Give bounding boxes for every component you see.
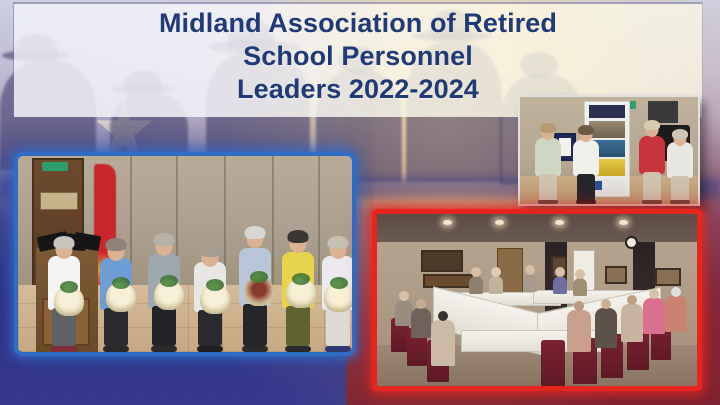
door-sign [40,192,78,210]
bouquet [286,278,316,308]
ceiling-light-icon [495,220,504,225]
bouquet [244,276,274,306]
bouquet [200,284,230,314]
meeting-attendee [665,296,687,332]
ceiling-light-icon [619,220,628,225]
group-photo[interactable] [14,152,356,356]
bouquet [154,280,184,310]
bouquet [106,282,136,312]
meeting-attendee [553,276,567,294]
meeting-attendee [567,310,591,352]
award-photo-scene [520,97,698,204]
meeting-attendee [431,320,455,366]
meeting-attendee [595,308,617,348]
meeting-photo[interactable] [372,209,702,391]
meeting-attendee [523,274,537,292]
award-member [530,122,566,204]
exit-sign-icon [42,162,68,171]
bouquet [324,282,354,312]
banner-header [589,105,625,118]
meeting-attendee [643,298,665,334]
meeting-attendee [489,276,503,294]
sideboard [423,274,473,288]
award-photo[interactable] [518,95,700,206]
page-title: Midland Association of Retired School Pe… [14,7,702,106]
wall-art [605,266,627,284]
ceiling-light-icon [555,220,564,225]
meeting-chair [541,340,565,386]
wall-art [655,268,681,286]
bouquet [54,286,84,316]
ceiling-light-icon [443,220,452,225]
meeting-photo-scene [377,214,697,386]
wall-clock-icon [625,236,638,249]
meeting-attendee [621,304,643,342]
award-member [662,126,698,204]
award-member [568,124,604,204]
wall-mirror [421,250,463,272]
meeting-room-ceiling [377,214,697,242]
meeting-attendee [469,276,483,294]
meeting-attendee [573,278,587,296]
presentation-slide: Midland Association of Retired School Pe… [0,0,720,405]
meeting-attendee [411,308,431,338]
group-photo-scene [18,156,352,352]
